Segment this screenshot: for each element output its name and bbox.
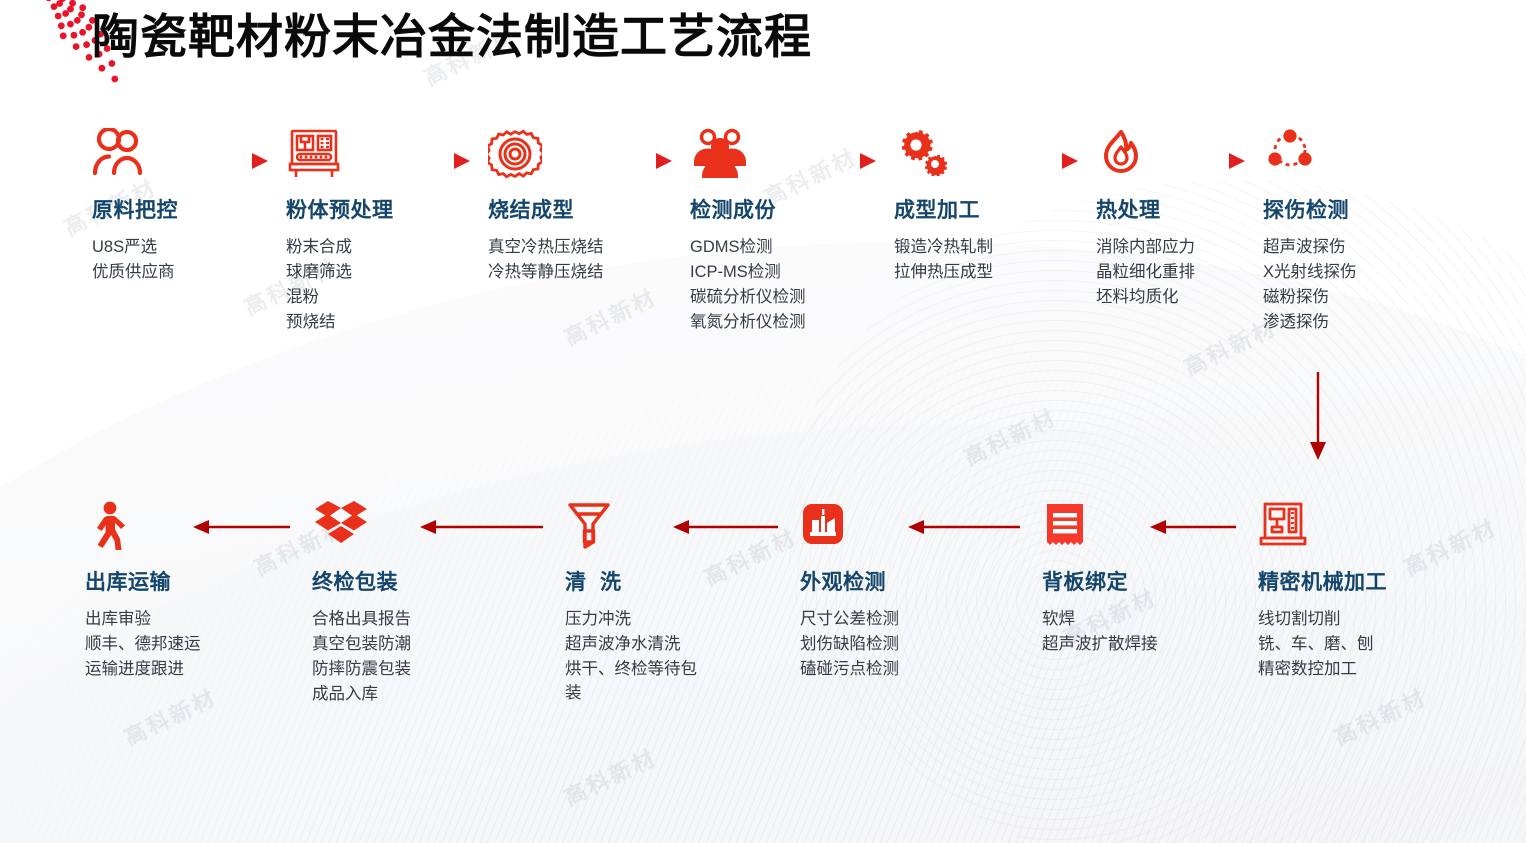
step-detail-item: 压力冲洗 [565, 607, 765, 632]
step-detail-item: 顺丰、德邦速运 [85, 632, 285, 657]
step-detail-item: U8S严选 [92, 235, 292, 260]
step-title: 成型加工 [894, 194, 1094, 224]
process-step-precision-machining[interactable]: 精密机械加工线切割切削铣、车、磨、刨精密数控加工 [1258, 500, 1458, 682]
step-detail-item: 磁粉探伤 [1263, 285, 1463, 310]
step-title: 探伤检测 [1263, 194, 1463, 224]
step-detail-item: 软焊 [1042, 607, 1242, 632]
flow-arrow-left [673, 516, 778, 540]
step-detail-item: 尺寸公差检测 [800, 607, 1000, 632]
flow-arrow-right [394, 150, 470, 174]
step-detail-item: 精密数控加工 [1258, 657, 1458, 682]
step-detail-list: 软焊超声波扩散焊接 [1042, 607, 1242, 657]
step-detail-item: 防摔防震包装 [312, 657, 512, 682]
flow-arrow-right [798, 150, 876, 174]
step-detail-item: 真空包装防潮 [312, 632, 512, 657]
step-detail-list: U8S严选优质供应商 [92, 235, 292, 285]
watermark: 高科新材 [958, 400, 1062, 473]
step-detail-item: 磕碰污点检测 [800, 657, 1000, 682]
step-title: 烧结成型 [488, 194, 688, 224]
step-title: 外观检测 [800, 566, 1000, 596]
connector-arrow-down [1300, 372, 1340, 464]
step-title: 出库运输 [85, 566, 285, 596]
watermark: 高科新材 [1328, 680, 1432, 753]
step-detail-list: 压力冲洗超声波净水清洗烘干、终检等待包装 [565, 607, 765, 705]
flow-arrow-left [908, 516, 1020, 540]
step-title: 背板绑定 [1042, 566, 1242, 596]
step-detail-item: 渗透探伤 [1263, 310, 1463, 335]
step-detail-list: 超声波探伤X光射线探伤磁粉探伤渗透探伤 [1263, 235, 1463, 335]
process-step-flaw-detection[interactable]: 探伤检测超声波探伤X光射线探伤磁粉探伤渗透探伤 [1263, 128, 1463, 335]
cnc-machine-icon [1258, 500, 1458, 552]
step-detail-list: 锻造冷热轧制拉伸热压成型 [894, 235, 1094, 285]
flow-arrow-right [1002, 150, 1078, 174]
step-detail-item: 锻造冷热轧制 [894, 235, 1094, 260]
watermark: 高科新材 [558, 280, 662, 353]
step-detail-list: 粉末合成球磨筛选混粉预烧结 [286, 235, 486, 335]
step-detail-item: X光射线探伤 [1263, 260, 1463, 285]
step-title: 终检包装 [312, 566, 512, 596]
step-detail-item: 合格出具报告 [312, 607, 512, 632]
step-detail-item: 超声波扩散焊接 [1042, 632, 1242, 657]
step-detail-item: 优质供应商 [92, 260, 292, 285]
flow-arrow-right [1204, 150, 1245, 174]
step-detail-item: 粉末合成 [286, 235, 486, 260]
flow-arrow-right [200, 150, 268, 174]
step-detail-item: 超声波净水清洗 [565, 632, 765, 657]
step-title: 原料把控 [92, 194, 292, 224]
page-title: 陶瓷靶材粉末冶金法制造工艺流程 [92, 8, 812, 66]
step-detail-item: 碳硫分析仪检测 [690, 285, 890, 310]
step-detail-list: 尺寸公差检测划伤缺陷检测磕碰污点检测 [800, 607, 1000, 682]
watermark: 高科新材 [558, 740, 662, 813]
step-detail-item: 拉伸热压成型 [894, 260, 1094, 285]
step-detail-item: 混粉 [286, 285, 486, 310]
step-title: 粉体预处理 [286, 194, 486, 224]
flow-arrow-left [1150, 516, 1236, 540]
step-detail-item: 预烧结 [286, 310, 486, 335]
flow-arrow-right [596, 150, 672, 174]
step-detail-item: 真空冷热压烧结 [488, 235, 688, 260]
step-detail-item: 球磨筛选 [286, 260, 486, 285]
step-detail-list: 出库审验顺丰、德邦速运运输进度跟进 [85, 607, 285, 682]
step-title: 精密机械加工 [1258, 566, 1458, 596]
step-detail-item: 铣、车、磨、刨 [1258, 632, 1458, 657]
step-detail-item: 出库审验 [85, 607, 285, 632]
step-detail-item: 超声波探伤 [1263, 235, 1463, 260]
step-detail-list: 合格出具报告真空包装防潮防摔防震包装成品入库 [312, 607, 512, 707]
step-detail-item: 运输进度跟进 [85, 657, 285, 682]
step-detail-list: GDMS检测ICP-MS检测碳硫分析仪检测氧氮分析仪检测 [690, 235, 890, 335]
background-decoration: 高科新材 高科新材 高科新材 高科新材 高科新材 高科新材 高科新材 高科新材 … [0, 0, 1526, 843]
three-dots-cycle-icon [1263, 128, 1463, 180]
step-detail-item: 氧氮分析仪检测 [690, 310, 890, 335]
step-title: 清洗 [565, 566, 765, 596]
step-detail-item: 冷热等静压烧结 [488, 260, 688, 285]
flow-arrow-left [193, 516, 290, 540]
step-detail-list: 真空冷热压烧结冷热等静压烧结 [488, 235, 688, 285]
flow-arrow-left [420, 516, 543, 540]
step-detail-item: ICP-MS检测 [690, 260, 890, 285]
watermark: 高科新材 [118, 680, 222, 753]
step-detail-item: 划伤缺陷检测 [800, 632, 1000, 657]
step-detail-item: 烘干、终检等待包装 [565, 657, 710, 705]
step-detail-item: GDMS检测 [690, 235, 890, 260]
step-detail-list: 线切割切削铣、车、磨、刨精密数控加工 [1258, 607, 1458, 682]
step-detail-item: 成品入库 [312, 682, 512, 707]
step-detail-item: 线切割切削 [1258, 607, 1458, 632]
step-title: 检测成份 [690, 194, 890, 224]
